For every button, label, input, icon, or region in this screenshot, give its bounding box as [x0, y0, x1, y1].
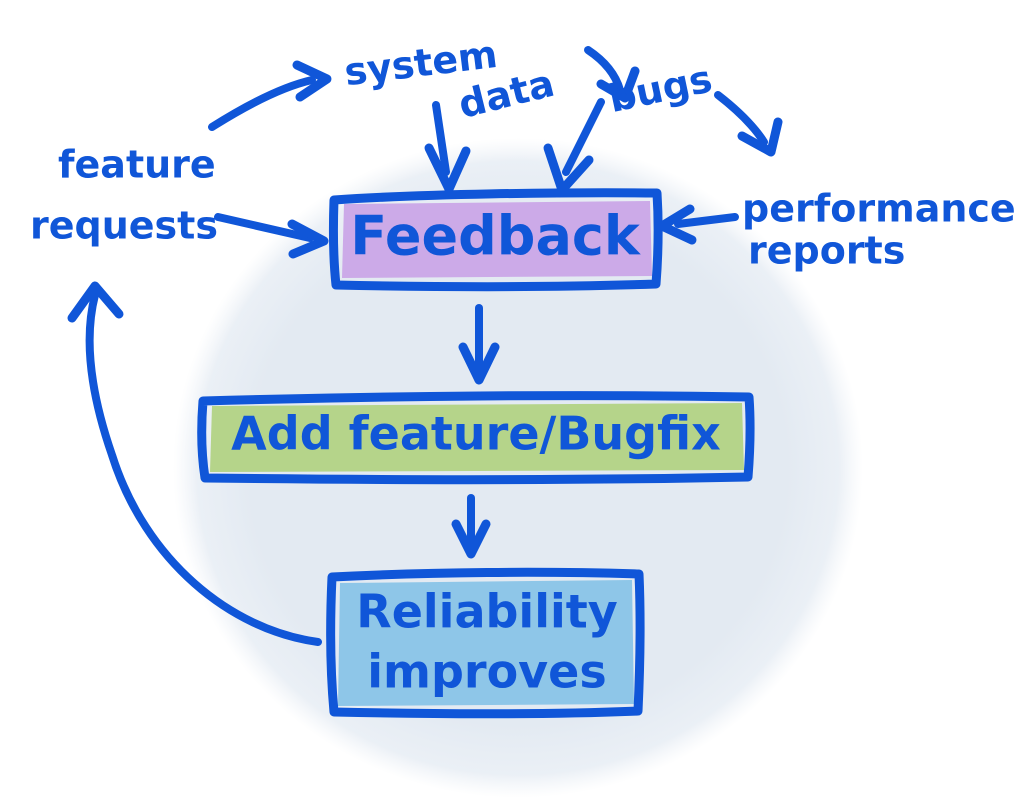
label-system-data: system data: [342, 32, 558, 127]
feedback-label: Feedback: [350, 205, 641, 268]
feature-requests-line1: feature: [58, 143, 216, 187]
node-reliability[interactable]: Reliability improves: [331, 572, 640, 713]
diagram-svg: Feedback Add feature/Bugfix Reliability …: [0, 0, 1034, 811]
add-feature-label: Add feature/Bugfix: [231, 407, 721, 461]
label-performance-reports: performance reports: [742, 187, 1016, 273]
node-add-feature[interactable]: Add feature/Bugfix: [202, 396, 750, 480]
node-feedback[interactable]: Feedback: [333, 193, 658, 287]
reliability-label-line1: Reliability: [356, 585, 617, 639]
bugs-label: bugs: [605, 56, 716, 121]
feature-requests-line2: requests: [30, 204, 218, 248]
performance-reports-line1: performance: [742, 187, 1016, 231]
performance-reports-line2: reports: [748, 229, 905, 273]
arrow-performance-reports-lead-in: [718, 95, 778, 152]
reliability-label-line2: improves: [367, 645, 606, 699]
label-bugs: bugs: [605, 56, 716, 121]
diagram-canvas: Feedback Add feature/Bugfix Reliability …: [0, 0, 1034, 811]
arrow-system-data-lead-in: [212, 65, 327, 127]
label-feature-requests: feature requests: [30, 143, 218, 248]
